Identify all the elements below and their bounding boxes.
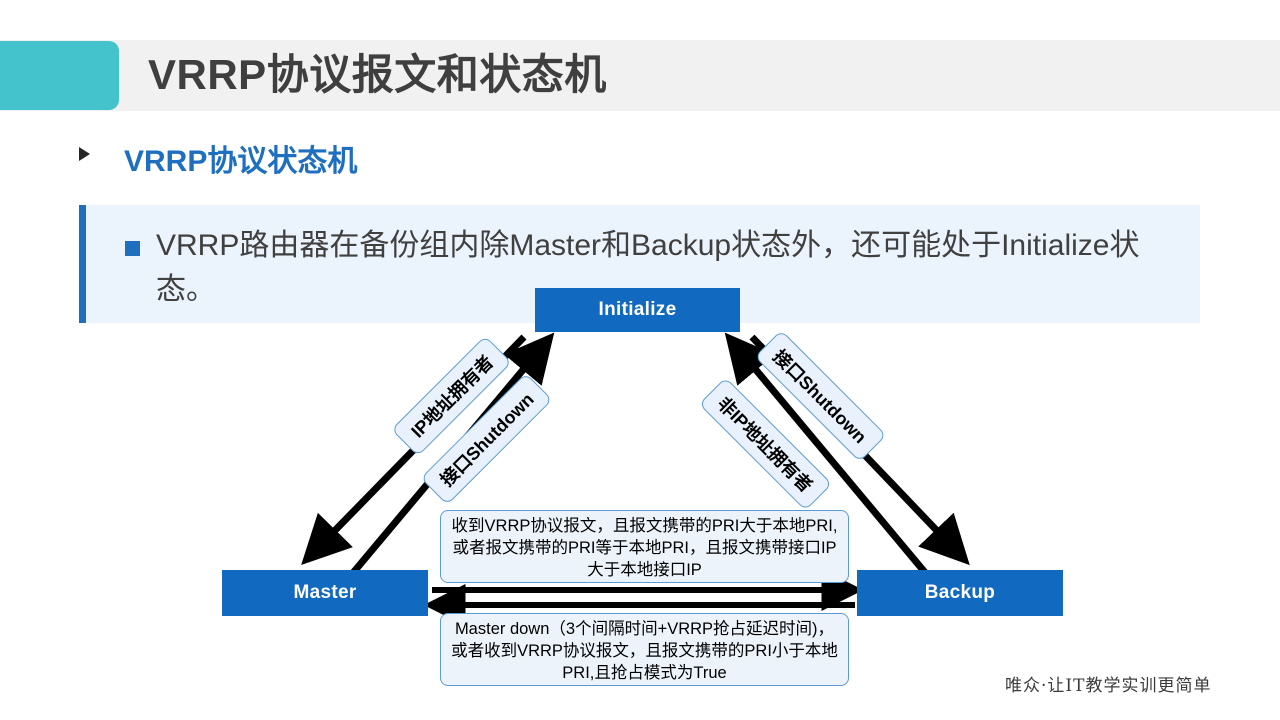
state-node-master[interactable]: Master bbox=[222, 570, 428, 616]
callout-accent-bar bbox=[79, 205, 86, 323]
condition-box-master-to-backup: 收到VRRP协议报文，且报文携带的PRI大于本地PRI,或者报文携带的PRI等于… bbox=[440, 510, 849, 583]
condition-box-backup-to-master: Master down（3个间隔时间+VRRP抢占延迟时间)，或者收到VRRP协… bbox=[440, 613, 849, 686]
triangle-right-icon bbox=[79, 147, 90, 161]
section-title: VRRP协议状态机 bbox=[124, 136, 357, 180]
state-node-initialize[interactable]: Initialize bbox=[535, 288, 740, 332]
page-title: VRRP协议报文和状态机 bbox=[148, 39, 1048, 111]
footer-branding: 唯众·让IT教学实训更简单 bbox=[1005, 671, 1211, 696]
square-bullet-icon bbox=[125, 241, 140, 256]
state-node-backup[interactable]: Backup bbox=[857, 570, 1063, 616]
header-accent-tab bbox=[0, 41, 119, 110]
